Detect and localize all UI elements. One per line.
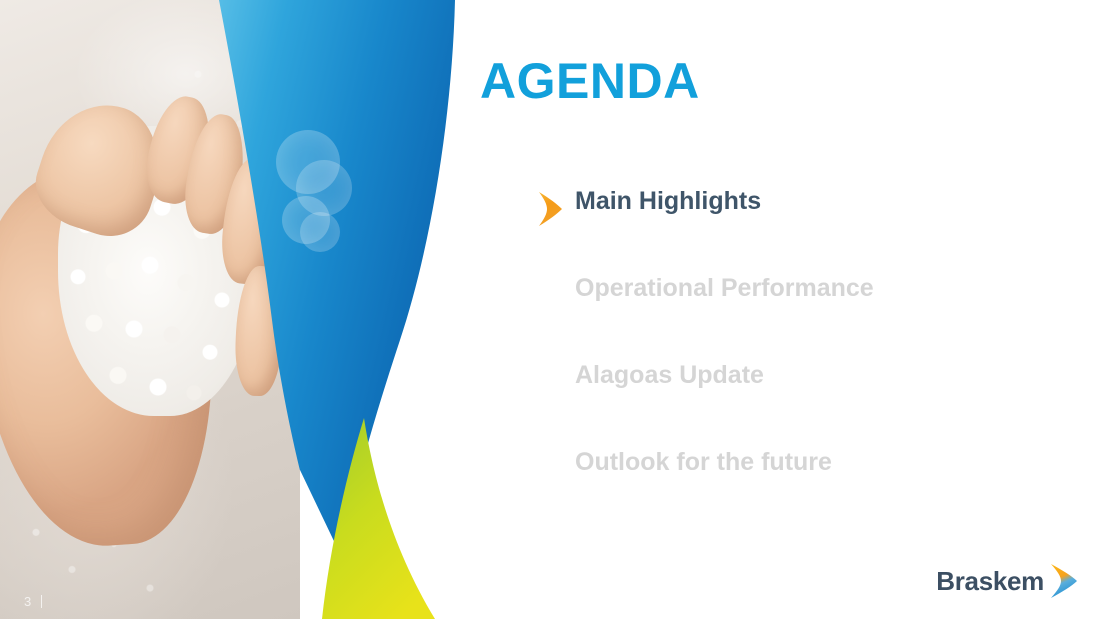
hand-illustration: [0, 96, 274, 566]
agenda-item-label: Operational Performance: [575, 275, 874, 301]
agenda-item-label: Main Highlights: [575, 188, 761, 214]
agenda-item-main-highlights[interactable]: Main Highlights: [575, 188, 1095, 275]
agenda-list: Main Highlights Operational Performance …: [575, 188, 1095, 536]
hero-photo: [0, 0, 300, 619]
page-title: AGENDA: [480, 56, 700, 106]
agenda-item-operational-performance[interactable]: Operational Performance: [575, 275, 1095, 362]
agenda-item-label: Outlook for the future: [575, 449, 832, 475]
logo-wordmark: Braskem: [936, 566, 1044, 597]
braskem-logo: Braskem: [936, 563, 1078, 599]
agenda-item-alagoas-update[interactable]: Alagoas Update: [575, 362, 1095, 449]
slide-content: AGENDA Main Highlights Operationa: [480, 0, 1100, 619]
presentation-slide: AGENDA Main Highlights Operationa: [0, 0, 1100, 619]
decorative-bubble: [300, 212, 340, 252]
green-wedge: [322, 418, 435, 619]
page-number-separator: [41, 595, 42, 608]
agenda-item-outlook-for-the-future[interactable]: Outlook for the future: [575, 449, 1095, 536]
chevron-right-icon: [537, 191, 563, 227]
agenda-item-label: Alagoas Update: [575, 362, 764, 388]
page-number-value: 3: [24, 594, 32, 609]
braskem-chevron-icon: [1048, 563, 1078, 599]
page-number: 3: [24, 594, 42, 609]
